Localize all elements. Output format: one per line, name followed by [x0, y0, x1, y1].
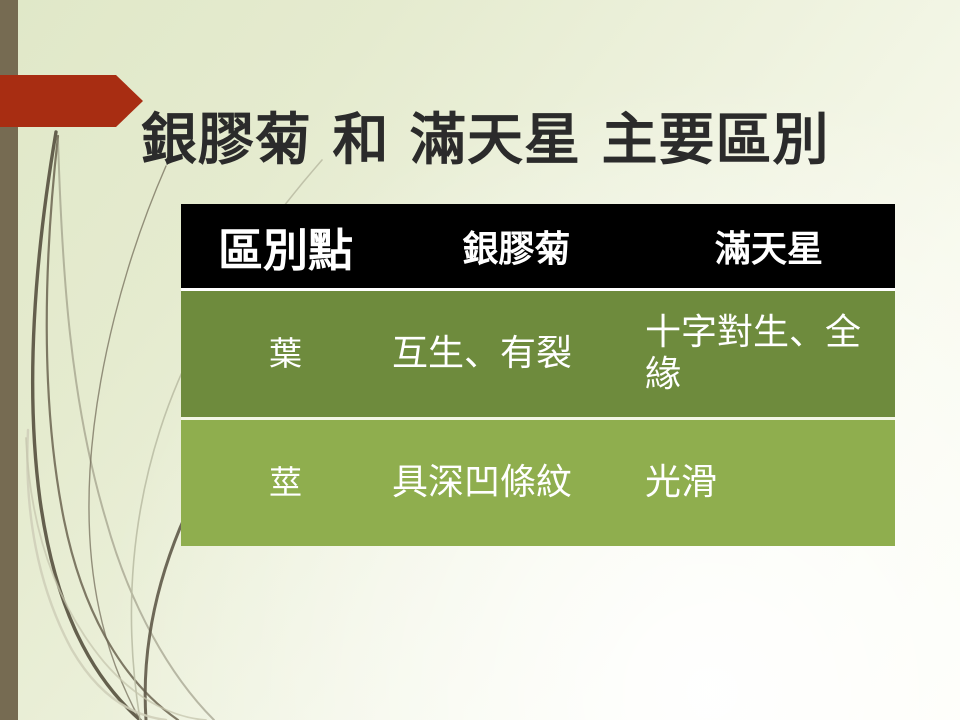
row-key-leaf: 葉	[181, 290, 390, 419]
column-header-species-b: 滿天星	[643, 204, 895, 290]
cell-leaf-species-a: 互生、有裂	[390, 290, 643, 419]
row-key-stem: 莖	[181, 419, 390, 547]
column-header-species-a: 銀膠菊	[390, 204, 643, 290]
table-header: 區別點 銀膠菊 滿天星	[181, 204, 895, 290]
page-title: 銀膠菊 和 滿天星 主要區別	[141, 94, 941, 190]
table-row: 葉 互生、有裂 十字對生、全緣	[181, 290, 895, 419]
slide-canvas: 銀膠菊 和 滿天星 主要區別 區別點 銀膠菊 滿天星 葉 互生、有裂 十字對生、…	[0, 0, 960, 720]
comparison-table: 區別點 銀膠菊 滿天星 葉 互生、有裂 十字對生、全緣 莖 具深凹條紋 光滑	[181, 204, 895, 546]
table-row: 莖 具深凹條紋 光滑	[181, 419, 895, 547]
table-body: 葉 互生、有裂 十字對生、全緣 莖 具深凹條紋 光滑	[181, 290, 895, 547]
cell-stem-species-b: 光滑	[643, 419, 895, 547]
column-header-key: 區別點	[181, 204, 390, 290]
table-header-row: 區別點 銀膠菊 滿天星	[181, 204, 895, 290]
right-arrow-banner	[0, 75, 143, 127]
cell-stem-species-a: 具深凹條紋	[390, 419, 643, 547]
cell-leaf-species-b: 十字對生、全緣	[643, 290, 895, 419]
